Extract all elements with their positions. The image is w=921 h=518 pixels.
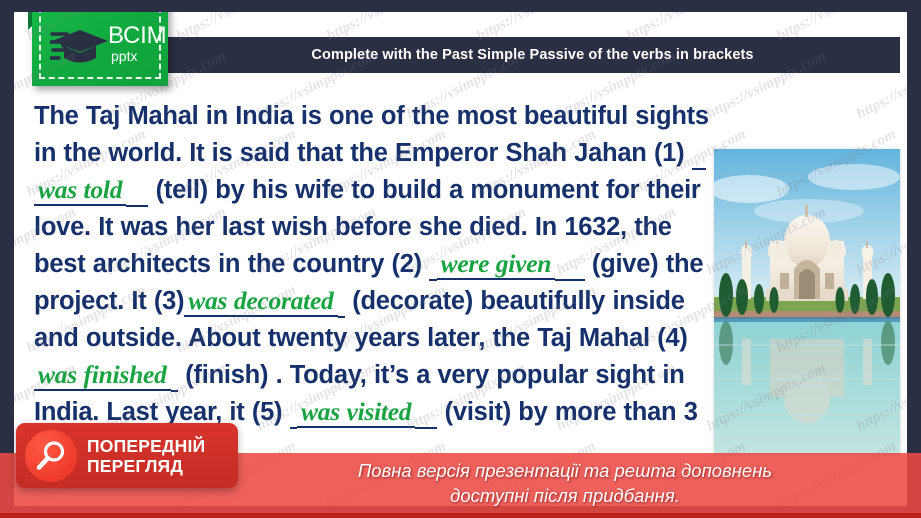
exercise-paragraph: The Taj Mahal in India is one of the mos… xyxy=(34,98,710,468)
sentence-part-1: The Taj Mahal in India is one of the mos… xyxy=(34,102,709,167)
magnifier-icon xyxy=(25,430,77,482)
slide-root: The Taj Mahal in India is one of the mos… xyxy=(0,0,921,518)
answer-2[interactable]: were given xyxy=(437,249,556,280)
purchase-notice-line-2: доступні після придбання. xyxy=(255,483,875,508)
taj-mahal-image xyxy=(714,149,900,455)
logo-wordmark: ВСІМ xyxy=(108,24,166,48)
blank-underline-3b xyxy=(338,287,345,318)
purchase-notice-line-1: Повна версія презентації та решта доповн… xyxy=(255,458,875,483)
preview-badge-labels: ПОПЕРЕДНІЙ ПЕРЕГЛЯД xyxy=(87,436,205,476)
preview-badge-line-1: ПОПЕРЕДНІЙ xyxy=(87,436,205,456)
blank-underline-5b xyxy=(415,398,437,429)
answer-1[interactable]: was told xyxy=(34,175,126,206)
preview-badge-line-2: ПЕРЕГЛЯД xyxy=(87,456,205,476)
blank-underline-2b xyxy=(555,250,584,281)
blank-underline-5 xyxy=(290,398,297,429)
answer-5[interactable]: was visited xyxy=(297,397,415,428)
blank-underline-4b xyxy=(171,361,178,392)
purchase-notice-text: Повна версія презентації та решта доповн… xyxy=(255,458,875,508)
answer-4[interactable]: was finished xyxy=(34,360,171,391)
preview-badge[interactable]: ПОПЕРЕДНІЙ ПЕРЕГЛЯД xyxy=(16,423,238,488)
blank-underline-1 xyxy=(692,139,707,170)
blank-underline-2 xyxy=(429,250,436,281)
slide-title-bar: Complete with the Past Simple Passive of… xyxy=(165,37,900,73)
taj-mahal-illustration xyxy=(714,149,900,455)
page-title: Complete with the Past Simple Passive of… xyxy=(311,47,753,63)
logo-box: ВСІМ pptx xyxy=(32,12,168,86)
vsimpptx-logo[interactable]: ВСІМ pptx xyxy=(32,12,172,90)
graduation-cap-icon xyxy=(50,26,110,68)
logo-subtext: pptx xyxy=(111,49,137,63)
blank-underline-1b xyxy=(126,176,148,207)
answer-3[interactable]: was decorated xyxy=(184,286,337,317)
